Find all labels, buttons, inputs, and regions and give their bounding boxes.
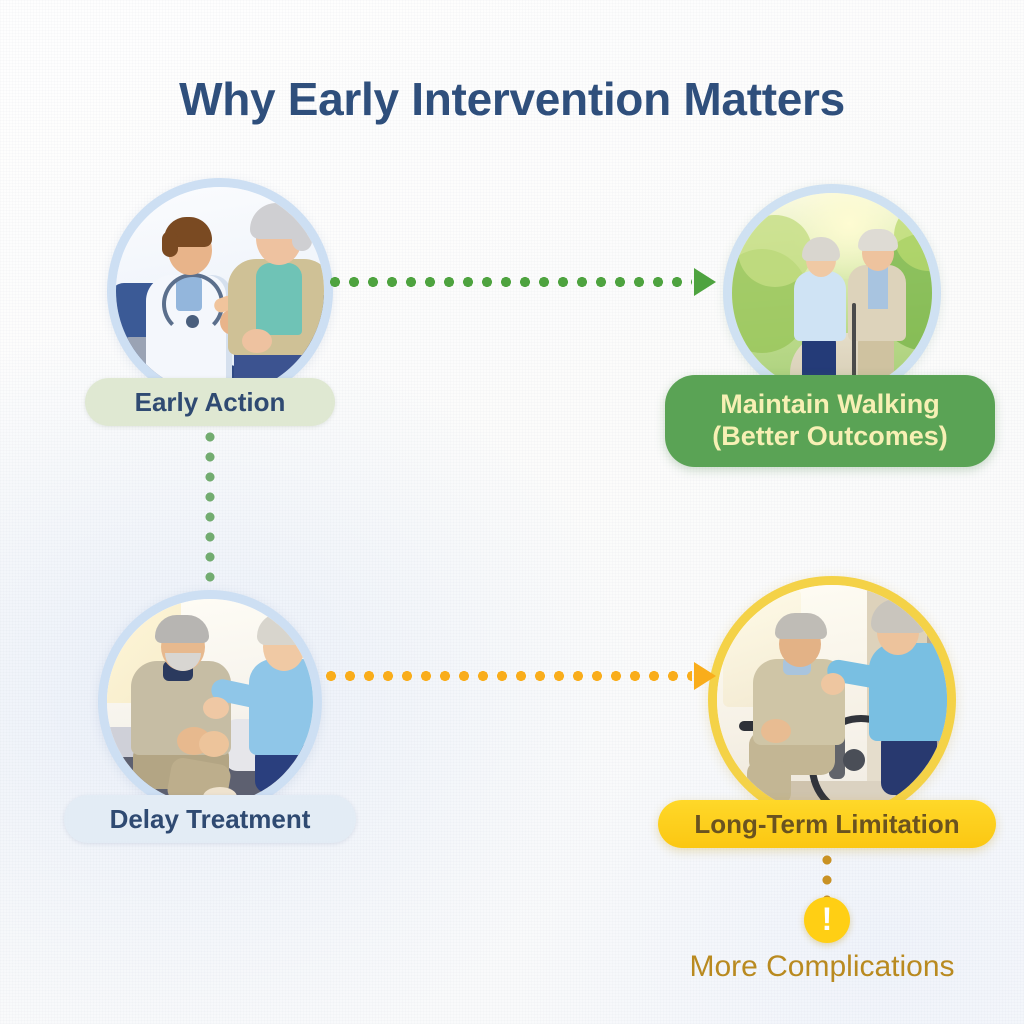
connector-early-action-to-maintain-walking: [330, 268, 716, 296]
arrowhead-amber-icon: [694, 662, 716, 690]
label-long-term-limitation[interactable]: Long-Term Limitation: [658, 800, 996, 848]
label-maintain-walking[interactable]: Maintain Walking (Better Outcomes): [665, 375, 995, 467]
page-title: Why Early Intervention Matters: [0, 72, 1024, 126]
scene-elderly-man-with-knee-pain-on-sofa: [107, 599, 313, 805]
connector-dots-green: [330, 277, 692, 287]
node-maintain-walking-image[interactable]: [723, 184, 941, 402]
label-maintain-walking-line1: Maintain Walking: [720, 389, 940, 421]
warning-exclamation-icon: !: [804, 897, 850, 943]
warning-glyph: !: [822, 903, 833, 935]
scene-doctor-consulting-elderly-woman: [116, 187, 324, 395]
warning-label: More Complications: [612, 950, 1024, 984]
scene-elderly-couple-walking-in-park: [732, 193, 932, 393]
connector-early-action-to-delay-treatment: [205, 432, 215, 584]
label-maintain-walking-line2: (Better Outcomes): [712, 421, 948, 453]
label-long-term-limitation-text: Long-Term Limitation: [694, 809, 959, 840]
scene-elderly-man-in-wheelchair-with-caregiver: [717, 585, 947, 815]
connector-dots-amber: [326, 671, 692, 681]
node-long-term-limitation-image[interactable]: [708, 576, 956, 824]
paper-texture: [0, 0, 1024, 1024]
connector-delay-treatment-to-long-term-limitation: [326, 662, 716, 690]
label-delay-treatment[interactable]: Delay Treatment: [64, 795, 356, 843]
label-delay-treatment-text: Delay Treatment: [110, 804, 311, 835]
connector-long-term-limitation-to-more-complications: [822, 855, 832, 903]
node-early-action-image[interactable]: [107, 178, 333, 404]
arrowhead-green-icon: [694, 268, 716, 296]
infographic-canvas: Why Early Intervention Matters: [0, 0, 1024, 1024]
label-early-action-text: Early Action: [135, 387, 286, 418]
label-early-action[interactable]: Early Action: [85, 378, 335, 426]
node-delay-treatment-image[interactable]: [98, 590, 322, 814]
